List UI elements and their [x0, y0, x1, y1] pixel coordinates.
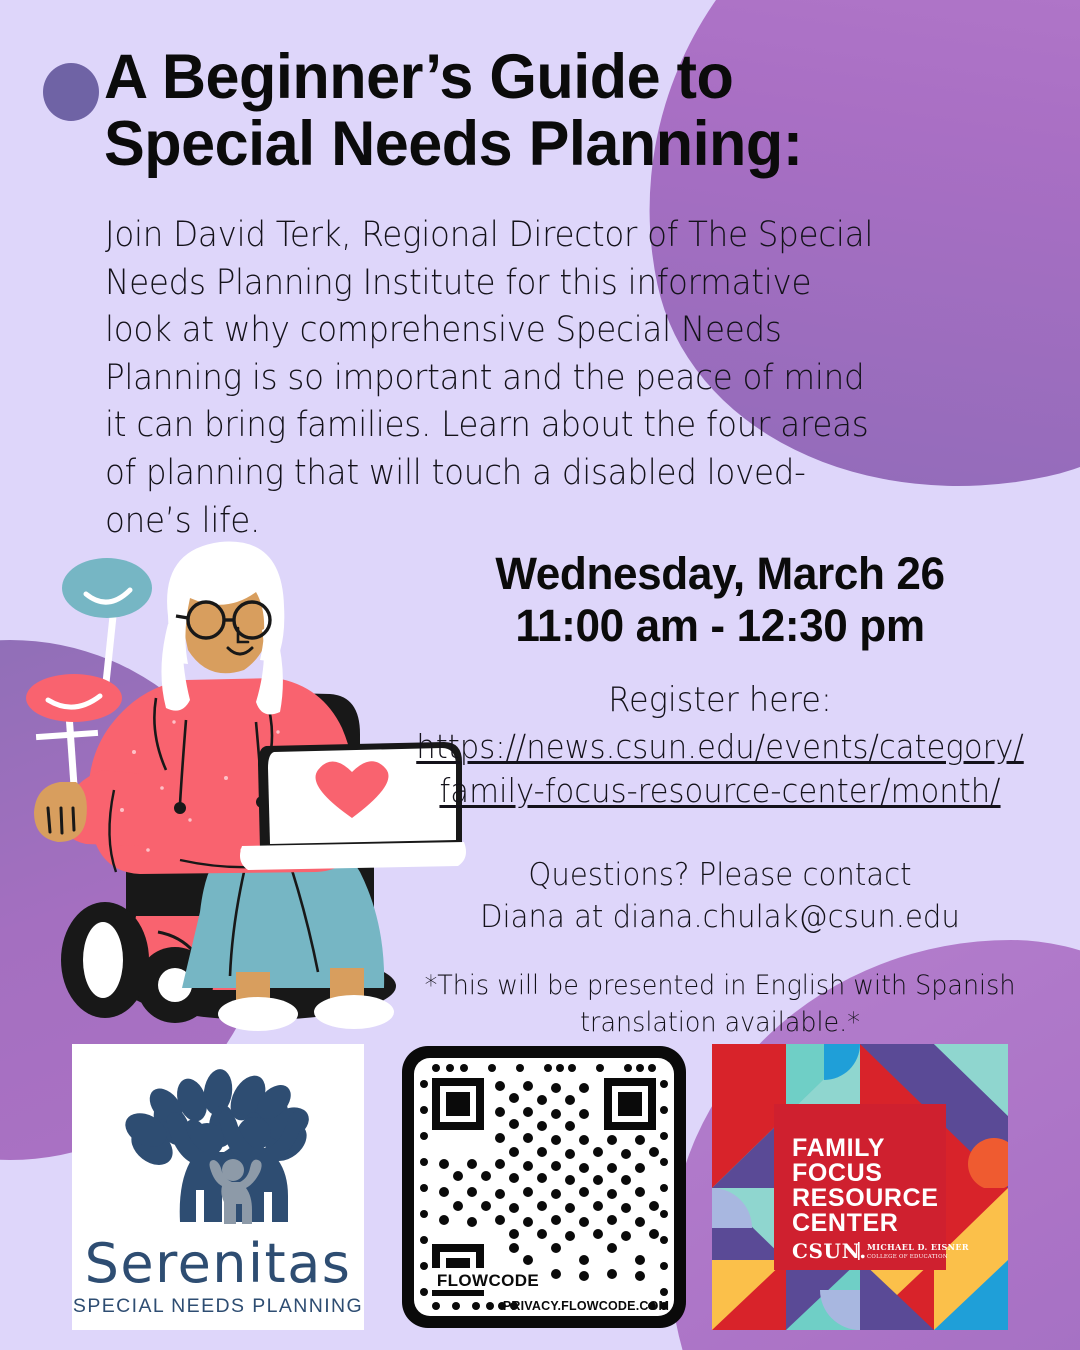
serenitas-name-text: Serenitas: [72, 1330, 73, 1331]
csun-wordmark: CSUN.: [792, 1239, 867, 1263]
flowcode-privacy-text: PRIVACY.FLOWCODE.COM: [503, 1299, 669, 1313]
qr-brand-label: FLOWCODE: [400, 1330, 401, 1331]
event-description: Join David Terk, Regional Director of Th…: [105, 212, 877, 545]
logo-strip: Serenitas SPECIAL NEEDS PLANNING Serenit…: [0, 1044, 1080, 1332]
csun-college-line-1: MICHAEL D. EISNER: [867, 1242, 969, 1252]
flowcode-brand-text: FLOWCODE: [437, 1271, 539, 1290]
qr-privacy-label: PRIVACY.FLOWCODE.COM: [400, 1330, 401, 1331]
serenitas-wordmark: Serenitas: [85, 1232, 352, 1295]
event-flyer: A Beginner’s Guide toSpecial Needs Plann…: [0, 0, 1080, 1350]
language-disclaimer: *This will be presented in English with …: [410, 968, 1030, 1041]
ffrc-line-2: FOCUS: [792, 1159, 883, 1187]
serenitas-tagline: SPECIAL NEEDS PLANNING: [73, 1295, 363, 1317]
ffrc-line-3: RESOURCE: [792, 1184, 939, 1212]
family-focus-resource-center-logo: FAMILY FOCUS RESOURCE CENTER CSUN. MICHA…: [712, 1044, 1008, 1330]
qr-code[interactable]: FLOWCODE PRIVACY.FLOWCODE.COM FLOWCODE P…: [400, 1044, 688, 1330]
registration-link[interactable]: https://news.csun.edu/events/category/fa…: [413, 725, 1027, 813]
page-title: A Beginner’s Guide toSpecial Needs Plann…: [40, 44, 1006, 179]
serenitas-tagline-text: SPECIAL NEEDS PLANNING: [72, 1330, 73, 1331]
ffrc-line-4: CENTER: [792, 1209, 898, 1237]
ffrc-line-1: FAMILY: [792, 1134, 885, 1162]
csun-college-line-2: COLLEGE OF EDUCATION: [867, 1254, 948, 1260]
contact-info: Questions? Please contactDiana at diana.…: [410, 854, 1030, 938]
event-datetime: Wednesday, March 2611:00 am - 12:30 pm: [397, 548, 1044, 652]
event-details-column: Wednesday, March 2611:00 am - 12:30 pm R…: [390, 548, 1050, 1041]
register-label: Register here:: [410, 678, 1030, 723]
serenitas-logo: Serenitas SPECIAL NEEDS PLANNING Serenit…: [72, 1044, 364, 1330]
title-block: A Beginner’s Guide toSpecial Needs Plann…: [40, 44, 1036, 179]
